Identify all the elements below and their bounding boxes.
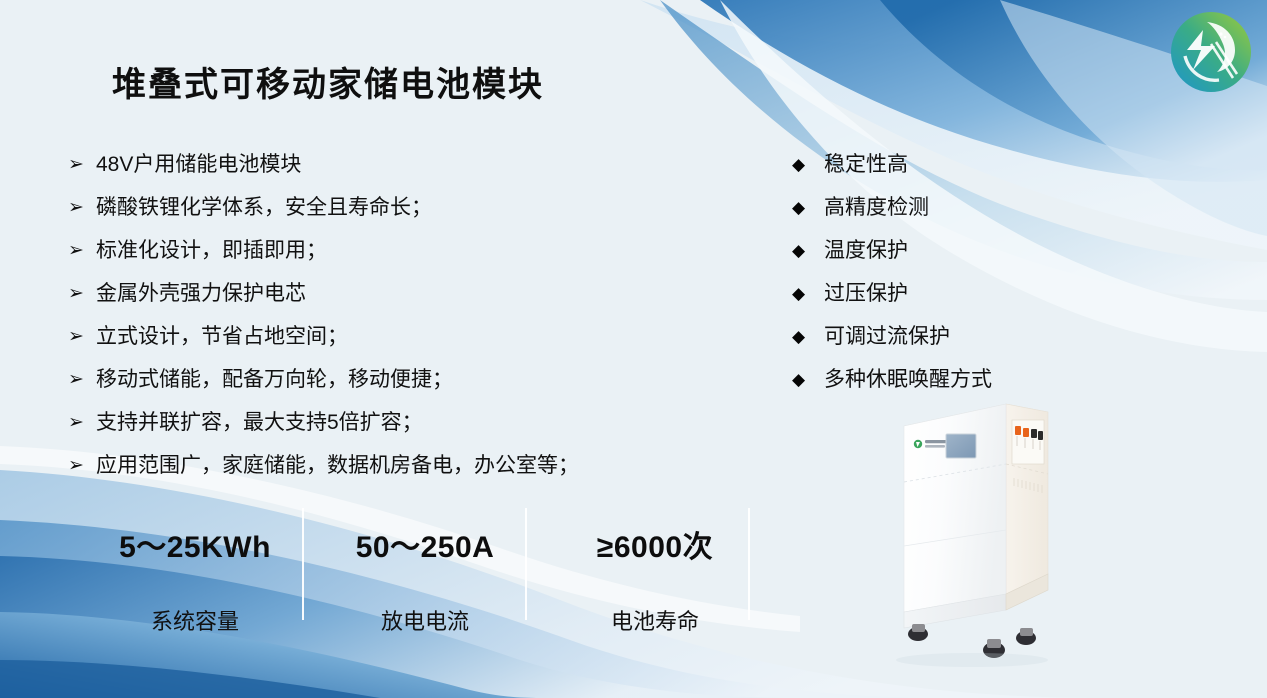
list-item-label: 稳定性高 <box>824 150 908 180</box>
stat-divider <box>525 508 527 620</box>
product-image <box>860 398 1160 688</box>
arrow-bullet-icon: ➢ <box>68 193 96 223</box>
diamond-bullet-icon: ◆ <box>792 193 824 223</box>
list-item: ➢ 应用范围广，家庭储能，数据机房备电，办公室等； <box>68 451 708 494</box>
list-item: ➢ 立式设计，节省占地空间； <box>68 322 708 365</box>
arrow-bullet-icon: ➢ <box>68 236 96 266</box>
list-item-label: 多种休眠唤醒方式 <box>824 365 992 395</box>
list-item-label: 过压保护 <box>824 279 908 309</box>
spec-stats-strip: 5～25KWh 系统容量 50～250A 放电电流 ≥6000次 电池寿命 <box>80 508 770 620</box>
list-item-label: 可调过流保护 <box>824 322 950 352</box>
diamond-bullet-icon: ◆ <box>792 322 824 352</box>
stat-label: 系统容量 <box>151 604 239 636</box>
stat-system-capacity: 5～25KWh 系统容量 <box>80 508 310 620</box>
list-item: ➢ 磷酸铁锂化学体系，安全且寿命长； <box>68 193 708 236</box>
stat-discharge-current: 50～250A 放电电流 <box>310 508 540 620</box>
protection-feature-list: ◆ 稳定性高 ◆ 高精度检测 ◆ 温度保护 ◆ 过压保护 ◆ 可调过流保护 ◆ … <box>792 150 1092 408</box>
diamond-bullet-icon: ◆ <box>792 279 824 309</box>
arrow-bullet-icon: ➢ <box>68 322 96 352</box>
list-item: ◆ 稳定性高 <box>792 150 1092 193</box>
list-item: ➢ 48V户用储能电池模块 <box>68 150 708 193</box>
list-item-label: 立式设计，节省占地空间； <box>96 322 348 352</box>
list-item-label: 高精度检测 <box>824 193 929 223</box>
list-item: ◆ 可调过流保护 <box>792 322 1092 365</box>
stat-divider <box>748 508 750 620</box>
stat-value: 5～25KWh <box>119 522 271 566</box>
list-item: ◆ 过压保护 <box>792 279 1092 322</box>
stat-label: 电池寿命 <box>611 604 699 636</box>
diamond-bullet-icon: ◆ <box>792 365 824 395</box>
diamond-bullet-icon: ◆ <box>792 150 824 180</box>
list-item-label: 金属外壳强力保护电芯 <box>96 279 306 309</box>
arrow-bullet-icon: ➢ <box>68 279 96 309</box>
arrow-bullet-icon: ➢ <box>68 408 96 438</box>
stat-label: 放电电流 <box>381 604 469 636</box>
page-title: 堆叠式可移动家储电池模块 <box>112 57 544 106</box>
diamond-bullet-icon: ◆ <box>792 236 824 266</box>
list-item-label: 温度保护 <box>824 236 908 266</box>
stat-value: ≥6000次 <box>597 522 713 566</box>
stat-battery-life: ≥6000次 电池寿命 <box>540 508 770 620</box>
list-item-label: 磷酸铁锂化学体系，安全且寿命长； <box>96 193 432 223</box>
list-item: ◆ 温度保护 <box>792 236 1092 279</box>
list-item-label: 支持并联扩容，最大支持5倍扩容； <box>96 408 423 438</box>
list-item: ➢ 支持并联扩容，最大支持5倍扩容； <box>68 408 708 451</box>
arrow-bullet-icon: ➢ <box>68 365 96 395</box>
stat-divider <box>302 508 304 620</box>
list-item-label: 48V户用储能电池模块 <box>96 150 301 180</box>
stat-value: 50～250A <box>356 522 495 566</box>
list-item: ➢ 移动式储能，配备万向轮，移动便捷； <box>68 365 708 408</box>
list-item-label: 标准化设计，即插即用； <box>96 236 327 266</box>
list-item: ➢ 标准化设计，即插即用； <box>68 236 708 279</box>
list-item-label: 移动式储能，配备万向轮，移动便捷； <box>96 365 453 395</box>
list-item: ➢ 金属外壳强力保护电芯 <box>68 279 708 322</box>
company-logo <box>1163 4 1259 100</box>
feature-bullet-list: ➢ 48V户用储能电池模块 ➢ 磷酸铁锂化学体系，安全且寿命长； ➢ 标准化设计… <box>68 150 708 494</box>
arrow-bullet-icon: ➢ <box>68 451 96 481</box>
list-item: ◆ 高精度检测 <box>792 193 1092 236</box>
list-item-label: 应用范围广，家庭储能，数据机房备电，办公室等； <box>96 451 579 481</box>
slide-canvas: 堆叠式可移动家储电池模块 ➢ 48V户用储能电池模块 ➢ 磷酸铁锂化学体系，安全… <box>0 0 1267 698</box>
arrow-bullet-icon: ➢ <box>68 150 96 180</box>
